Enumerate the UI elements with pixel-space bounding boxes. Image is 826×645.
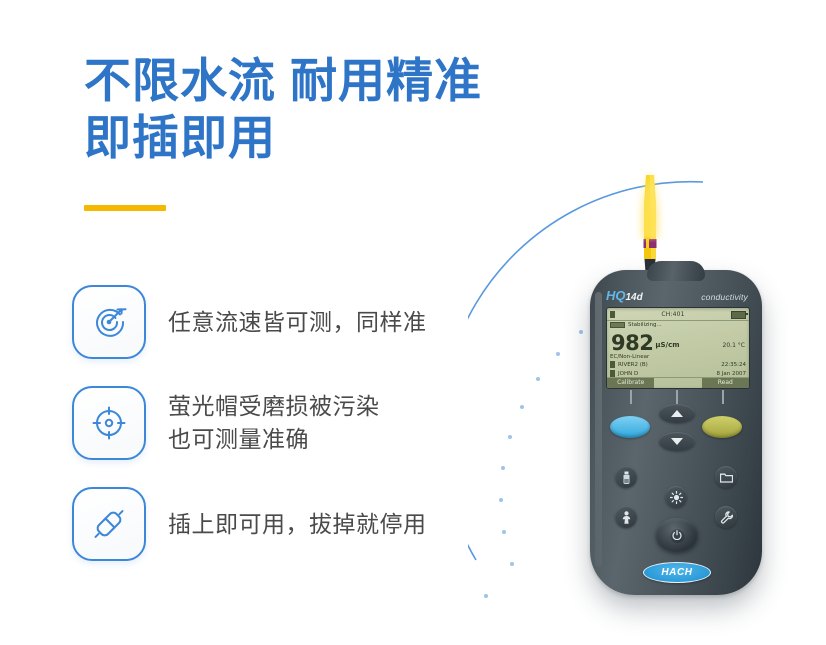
operator-icon bbox=[610, 370, 615, 377]
feature-item-fouling-resistance: 萤光帽受磨损被污染 也可测量准确 bbox=[72, 386, 552, 460]
lcd-operator: JOHN D bbox=[610, 370, 638, 377]
lcd-time: 22:35:24 bbox=[721, 362, 746, 368]
power-icon bbox=[672, 530, 682, 540]
lcd-display: CH:401 Stabilizing... 982 µS/cm 20.1 °C … bbox=[606, 307, 750, 389]
lcd-site: RIVER2 (B) bbox=[610, 361, 648, 368]
feature-item-flow-rate: 任意流速皆可测，同样准 bbox=[72, 285, 552, 359]
stem-left bbox=[630, 390, 632, 404]
parameter-label: conductivity bbox=[701, 292, 748, 302]
lcd-date: 8 Jan 2007 bbox=[717, 371, 746, 377]
lcd-temperature: 20.1 °C bbox=[723, 342, 745, 349]
headline-line-2: 即插即用 bbox=[84, 109, 604, 166]
wrench-icon bbox=[720, 511, 733, 524]
product-image-hq14d-meter: HQ14d conductivity CH:401 Stabilizing...… bbox=[560, 175, 826, 605]
lcd-softkey-bar: Calibrate . Read bbox=[607, 377, 749, 388]
probe-glow bbox=[637, 169, 663, 239]
stem-center bbox=[676, 390, 678, 404]
up-arrow-button[interactable] bbox=[659, 404, 695, 423]
lcd-stabilizing-row: Stabilizing... bbox=[607, 321, 749, 328]
feature-label: 插上即可用，拔掉就停用 bbox=[168, 508, 427, 541]
feature-item-plug-and-play: 插上即可用，拔掉就停用 bbox=[72, 487, 552, 561]
feature-label: 任意流速皆可测，同样准 bbox=[168, 306, 427, 339]
lcd-site-text: RIVER2 (B) bbox=[618, 362, 648, 368]
meter-body: HQ14d conductivity CH:401 Stabilizing...… bbox=[590, 270, 762, 595]
chevron-down-icon bbox=[671, 438, 683, 445]
crosshair-icon bbox=[90, 404, 128, 442]
lcd-channel: CH:401 bbox=[661, 311, 684, 318]
lcd-value: 982 bbox=[611, 332, 653, 354]
folder-icon bbox=[720, 472, 733, 483]
feature-icon-box bbox=[72, 386, 146, 460]
person-icon bbox=[621, 511, 632, 524]
feature-icon-box bbox=[72, 487, 146, 561]
brightness-icon bbox=[670, 491, 683, 504]
sample-button[interactable] bbox=[615, 466, 637, 488]
power-button[interactable] bbox=[656, 518, 698, 552]
feature-icon-box bbox=[72, 285, 146, 359]
model-name: HQ14d bbox=[606, 288, 643, 303]
lcd-status-text: Stabilizing... bbox=[628, 322, 662, 328]
lcd-softkey-middle: . bbox=[654, 378, 701, 388]
model-suffix: 14d bbox=[626, 292, 643, 303]
promo-page: 不限水流 耐用精准 即插即用 任意流速皆可测，同样准 bbox=[0, 0, 826, 645]
headline-line-1: 不限水流 耐用精准 bbox=[84, 52, 604, 109]
settings-wrench-button[interactable] bbox=[715, 506, 737, 528]
folder-button[interactable] bbox=[715, 466, 737, 488]
olive-softkey-button[interactable] bbox=[702, 416, 742, 438]
progress-bar-icon bbox=[610, 322, 625, 328]
stem-right bbox=[722, 390, 724, 404]
power-ring bbox=[670, 528, 685, 543]
feature-label: 萤光帽受磨损被污染 也可测量准确 bbox=[168, 390, 380, 456]
backlight-button[interactable] bbox=[665, 486, 687, 508]
brand-row: HQ14d conductivity bbox=[606, 288, 748, 302]
operator-button[interactable] bbox=[615, 506, 637, 528]
plug-connector-icon bbox=[90, 505, 128, 543]
lcd-site-row: RIVER2 (B) 22:35:24 bbox=[607, 360, 749, 369]
sample-bottle-icon bbox=[621, 471, 632, 484]
down-arrow-button[interactable] bbox=[659, 432, 695, 451]
model-prefix: HQ bbox=[606, 288, 626, 303]
site-icon bbox=[610, 361, 615, 368]
feature-list: 任意流速皆可测，同样准 萤光帽受磨损被污染 也可测量准确 bbox=[72, 285, 552, 588]
battery-icon bbox=[731, 311, 746, 319]
hach-logo-text: HACH bbox=[661, 567, 692, 578]
accent-underline bbox=[84, 205, 166, 211]
hach-logo: HACH bbox=[643, 562, 711, 583]
target-arrow-icon bbox=[90, 303, 128, 341]
lcd-softkey-left: Calibrate bbox=[607, 378, 654, 388]
lcd-status-bar: CH:401 bbox=[607, 308, 749, 321]
lcd-softkey-right: Read bbox=[702, 378, 749, 388]
chevron-up-icon bbox=[671, 410, 683, 417]
lcd-reading-row: 982 µS/cm 20.1 °C bbox=[607, 328, 749, 354]
lcd-operator-text: JOHN D bbox=[618, 371, 638, 377]
lcd-unit: µS/cm bbox=[655, 341, 679, 349]
blue-softkey-button[interactable] bbox=[610, 416, 650, 438]
signal-icon bbox=[610, 311, 615, 318]
page-title: 不限水流 耐用精准 即插即用 bbox=[84, 52, 604, 166]
